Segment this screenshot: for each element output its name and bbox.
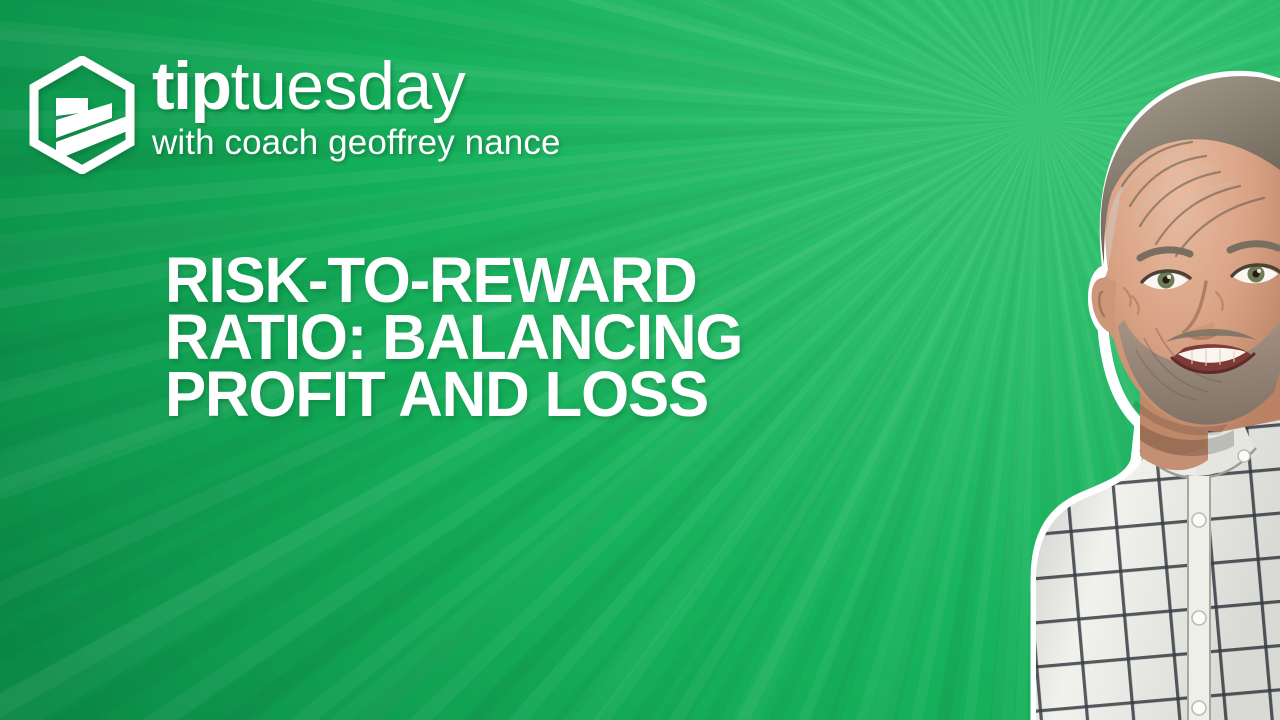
page-title: RISK-TO-REWARD RATIO: BALANCING PROFIT A… <box>165 252 925 423</box>
brand-tagline: with coach geoffrey nance <box>152 123 561 163</box>
wordmark-block: tiptuesday with coach geoffrey nance <box>152 52 561 163</box>
headline-line-3: PROFIT AND LOSS <box>165 366 898 423</box>
wordmark-tip: tip <box>152 48 231 124</box>
wordmark-tuesday: tuesday <box>231 48 466 124</box>
video-thumbnail-canvas: tiptuesday with coach geoffrey nance RIS… <box>0 0 1280 720</box>
hexagon-bars-logo-icon <box>26 56 138 174</box>
wordmark: tiptuesday <box>152 54 561 119</box>
brand-lockup: tiptuesday with coach geoffrey nance <box>26 52 561 174</box>
